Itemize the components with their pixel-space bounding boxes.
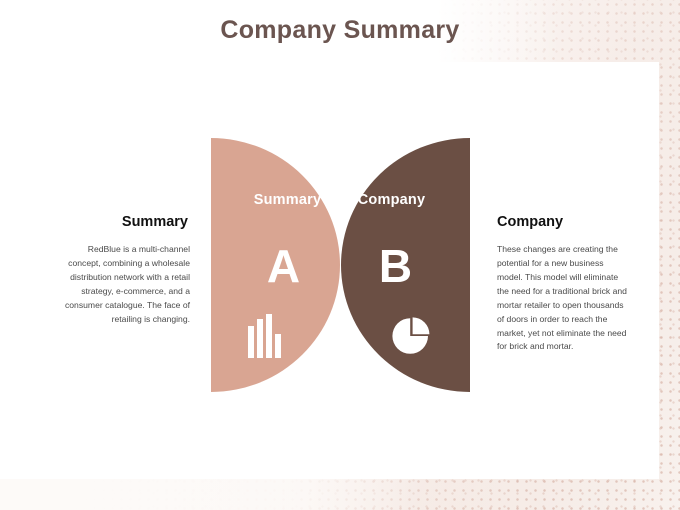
company-text-block: Company These changes are creating the p… [497,214,631,354]
bar-chart-bar [275,334,281,358]
bowtie-diagram: Summary Company A B [211,138,470,392]
company-shape-letter: B [331,243,460,289]
card-bottom-white-band [0,479,420,510]
bar-chart-bar [257,319,263,358]
summary-text-block: Summary RedBlue is a multi-channel conce… [58,214,190,327]
summary-heading: Summary [58,214,190,230]
bar-chart-bar [266,314,272,358]
bar-chart-icon [247,314,287,358]
pie-chart-exploded-slice [413,317,430,334]
summary-shape-letter: A [219,243,348,289]
company-body: These changes are creating the potential… [497,243,631,354]
company-heading: Company [497,214,631,230]
bar-chart-bar [248,326,254,358]
company-shape-label: Company [327,192,456,208]
summary-body: RedBlue is a multi-channel concept, comb… [58,243,190,327]
page-title: Company Summary [0,16,680,45]
pie-chart-icon [390,314,434,358]
